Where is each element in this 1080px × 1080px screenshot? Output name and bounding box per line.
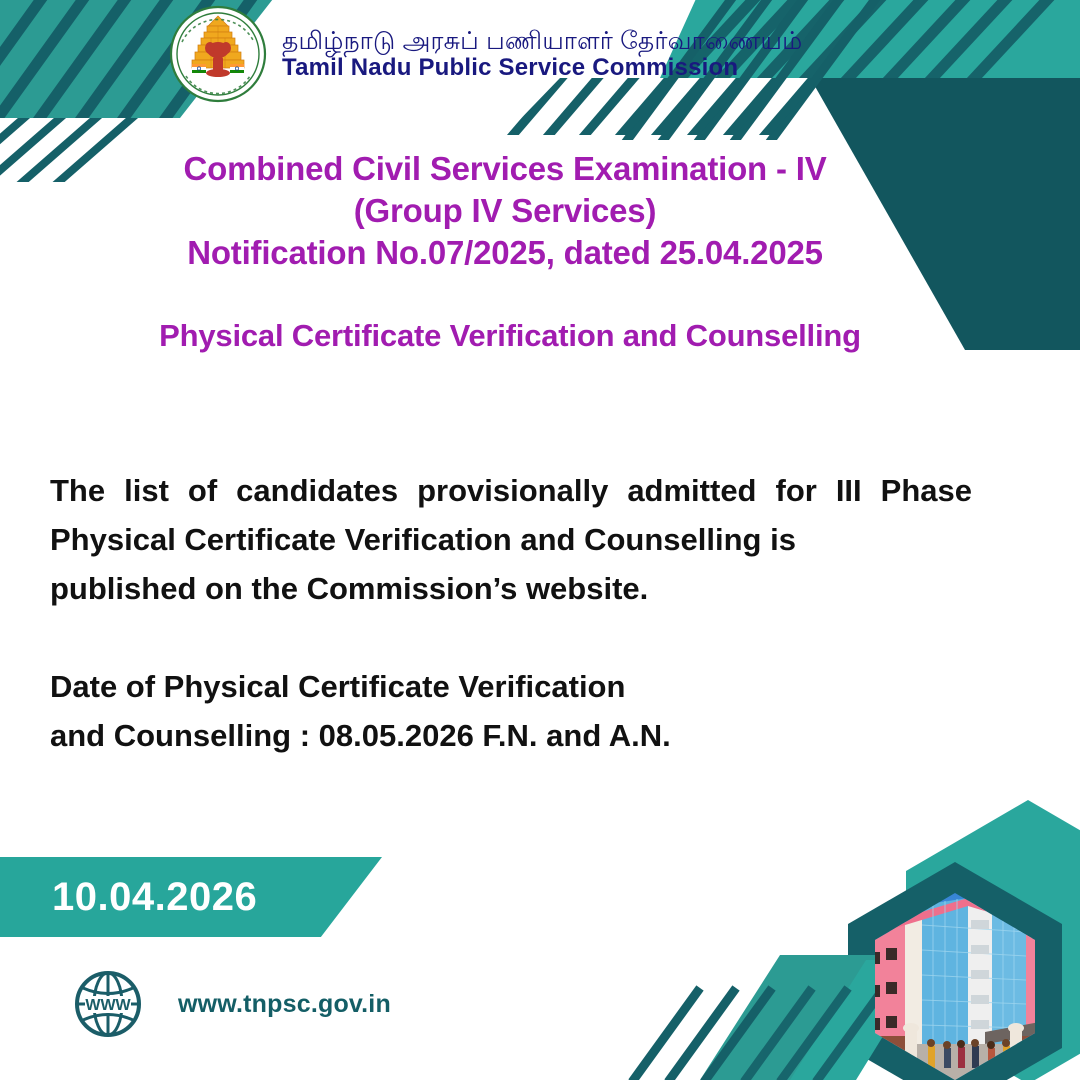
tnpsc-emblem-icon bbox=[168, 4, 268, 104]
website-url[interactable]: www.tnpsc.gov.in bbox=[178, 990, 391, 1019]
svg-text:WWW: WWW bbox=[85, 997, 131, 1014]
brand-name-tamil: தமிழ்நாடு அரசுப் பணியாளர் தேர்வாணையம் bbox=[282, 27, 802, 55]
announcement-paragraph: The list of candidates provisionally adm… bbox=[50, 466, 972, 613]
announcement-text-last-line: published on the Commission’s website. bbox=[50, 564, 972, 613]
verification-date-label: Date of Physical Certificate Verificatio… bbox=[50, 662, 950, 711]
globe-www-icon: WWW bbox=[72, 968, 144, 1040]
publish-date-text: 10.04.2026 bbox=[52, 875, 257, 920]
publish-date-banner: 10.04.2026 bbox=[0, 857, 382, 937]
verification-date-value: and Counselling : 08.05.2026 F.N. and A.… bbox=[50, 711, 950, 760]
brand-name: தமிழ்நாடு அரசுப் பணியாளர் தேர்வாணையம் Ta… bbox=[282, 27, 802, 82]
tnpsc-building-photo bbox=[860, 878, 1064, 1080]
announcement-text: The list of candidates provisionally adm… bbox=[50, 473, 972, 557]
footer: WWW www.tnpsc.gov.in bbox=[72, 968, 391, 1040]
page-subtitle: Physical Certificate Verification and Co… bbox=[0, 318, 1020, 354]
page-title: Combined Civil Services Examination - IV… bbox=[0, 148, 1010, 274]
brand-name-english: Tamil Nadu Public Service Commission bbox=[282, 55, 802, 82]
poster-canvas: தமிழ்நாடு அரசுப் பணியாளர் தேர்வாணையம் Ta… bbox=[0, 0, 1080, 1080]
verification-date-block: Date of Physical Certificate Verificatio… bbox=[50, 662, 950, 760]
title-line-3: Notification No.07/2025, dated 25.04.202… bbox=[0, 232, 1010, 274]
bottom-right-decoration bbox=[632, 800, 1080, 1080]
title-line-2: (Group IV Services) bbox=[0, 190, 1010, 232]
title-line-1: Combined Civil Services Examination - IV bbox=[0, 148, 1010, 190]
brand-header: தமிழ்நாடு அரசுப் பணியாளர் தேர்வாணையம் Ta… bbox=[168, 4, 802, 104]
